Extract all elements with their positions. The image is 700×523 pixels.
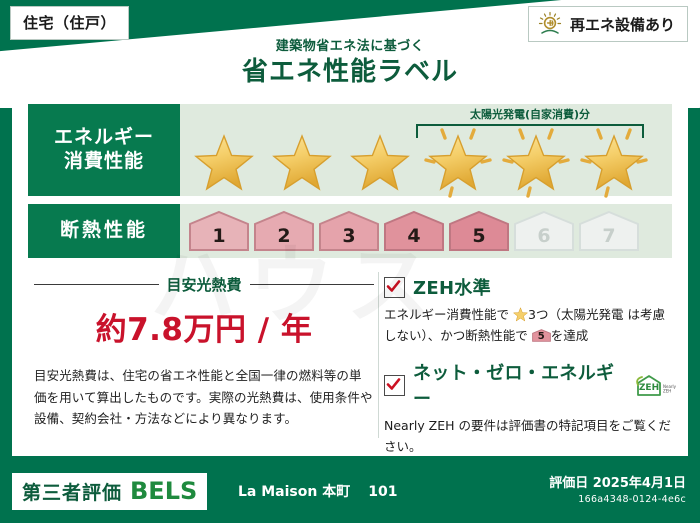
zeh-netzero-title: ネット・ゼロ・エネルギー	[413, 359, 622, 411]
page-title: 省エネ性能ラベル	[0, 56, 700, 89]
house-grade-5: 5	[448, 210, 510, 252]
house-grade-3: 3	[318, 210, 380, 252]
footer-bar: 第三者評価 BELS La Maison 本町101 評価日 2025年4月1日…	[0, 463, 700, 523]
house-grade-1: 1	[188, 210, 250, 252]
rule-left	[34, 284, 159, 285]
rule-right	[250, 284, 375, 285]
house-grade-number: 2	[253, 225, 315, 247]
inline-star-icon	[513, 307, 528, 322]
solar-portion-caption: 太陽光発電(自家消費)分	[416, 106, 644, 122]
zeh-star-count: 3つ（太陽光発電	[528, 307, 623, 322]
checkbox-checked-icon	[384, 277, 405, 298]
energy-stars-area: 太陽光発電(自家消費)分	[180, 104, 672, 196]
insulation-performance-label: 断熱性能	[28, 204, 180, 258]
insulation-grade-scale: 1 2 3 4	[188, 210, 640, 252]
star-icon-solar	[578, 126, 650, 192]
bels-jp-label: 第三者評価	[22, 478, 122, 505]
title-subtitle: 建築物省エネ法に基づく	[0, 40, 700, 54]
title-block: 建築物省エネ法に基づく 省エネ性能ラベル	[0, 40, 700, 89]
energy-label-line1: エネルギー	[54, 126, 154, 150]
badge-renewable-equipment: 再エネ設備あり	[528, 6, 688, 42]
house-grade-number: 5	[448, 225, 510, 247]
utility-cost-note: 目安光熱費は、住宅の省エネ性能と全国一律の燃料等の単価を用いて算出したものです。…	[34, 365, 374, 430]
star-icon-solar	[500, 126, 572, 192]
inline-house-grade-icon: 5	[532, 328, 551, 343]
house-grade-number: 7	[578, 225, 640, 247]
star-icon	[188, 126, 260, 192]
zeh-standard-title: ZEH水準	[413, 274, 491, 300]
solar-sun-icon	[537, 11, 563, 37]
performance-block: エネルギー 消費性能 太陽光発電(自家消費)分	[28, 104, 672, 266]
evaluation-date: 評価日 2025年4月1日	[549, 472, 686, 491]
badge-building-type: 住宅（住戸）	[10, 6, 129, 40]
zeh-logo-icon: ZEH Nearly ZEH	[630, 373, 676, 397]
vertical-divider	[378, 272, 379, 438]
house-grade-7: 7	[578, 210, 640, 252]
bels-en-label: BELS	[130, 477, 197, 505]
evaluation-info: 評価日 2025年4月1日 166a4348-0124-4e6c	[549, 472, 686, 505]
insulation-grades-area: 1 2 3 4	[180, 204, 672, 258]
zeh-standard-header: ZEH水準	[384, 274, 676, 300]
house-grade-number: 3	[318, 225, 380, 247]
zeh-netzero-text: Nearly ZEH の要件は評価書の特記項目をご覧ください。	[384, 415, 676, 457]
star-icon-solar	[422, 126, 494, 192]
zeh-section: ZEH水準 エネルギー消費性能で 3つ（太陽光発電 は考慮しない）、かつ断熱性能…	[384, 274, 676, 457]
energy-performance-label: エネルギー 消費性能	[28, 104, 180, 196]
utility-cost-title: 目安光熱費	[167, 274, 242, 295]
building-info: La Maison 本町101	[238, 481, 397, 501]
house-grade-4: 4	[383, 210, 445, 252]
building-name: La Maison 本町	[238, 484, 350, 500]
svg-text:ZEH: ZEH	[639, 383, 659, 393]
inline-house-grade-number: 5	[532, 329, 551, 346]
star-icon	[266, 126, 338, 192]
svg-text:ZEH: ZEH	[663, 389, 671, 394]
zeh-text-a: エネルギー消費性能で	[384, 307, 509, 322]
utility-cost-title-row: 目安光熱費	[34, 274, 374, 295]
zeh-standard-text: エネルギー消費性能で 3つ（太陽光発電 は考慮しない）、かつ断熱性能で 5 を達…	[384, 304, 676, 346]
evaluation-id: 166a4348-0124-4e6c	[549, 494, 686, 505]
zeh-text-c: を達成	[551, 328, 589, 343]
star-rating	[188, 126, 650, 192]
room-number: 101	[368, 484, 397, 500]
checkbox-checked-icon	[384, 375, 405, 396]
house-grade-number: 4	[383, 225, 445, 247]
house-grade-2: 2	[253, 210, 315, 252]
house-grade-number: 6	[513, 225, 575, 247]
star-icon	[344, 126, 416, 192]
energy-label-line2: 消費性能	[54, 150, 154, 174]
main-panel: エネルギー 消費性能 太陽光発電(自家消費)分	[12, 96, 688, 456]
bels-badge: 第三者評価 BELS	[12, 473, 207, 510]
house-grade-6: 6	[513, 210, 575, 252]
row-insulation-performance: 断熱性能 1 2 3	[28, 204, 672, 258]
utility-cost-value: 約7.8万円 / 年	[34, 304, 374, 349]
house-grade-number: 1	[188, 225, 250, 247]
zeh-netzero-header: ネット・ゼロ・エネルギー ZEH Nearly ZEH	[384, 359, 676, 411]
bels-energy-label: 建築物省エネ法に基づく 省エネ性能ラベル 住宅（住戸） 再エネ設備あり	[0, 0, 700, 523]
row-energy-performance: エネルギー 消費性能 太陽光発電(自家消費)分	[28, 104, 672, 196]
utility-cost-section: 目安光熱費 約7.8万円 / 年 目安光熱費は、住宅の省エネ性能と全国一律の燃料…	[34, 274, 374, 430]
badge-renewable-label: 再エネ設備あり	[570, 14, 675, 35]
